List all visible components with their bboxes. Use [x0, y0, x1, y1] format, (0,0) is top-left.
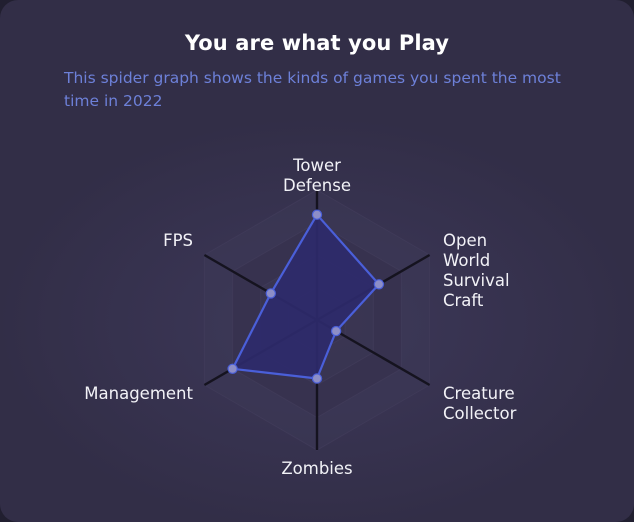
radar-chart-svg [0, 0, 634, 522]
radar-data-point[interactable] [374, 280, 383, 289]
radar-chart: Tower DefenseOpen World Survival CraftCr… [0, 0, 634, 522]
radar-data-point[interactable] [332, 327, 341, 336]
radar-data-point[interactable] [266, 289, 275, 298]
radar-data-point[interactable] [228, 364, 237, 373]
radar-data-point[interactable] [312, 374, 321, 383]
chart-card: You are what you Play This spider graph … [0, 0, 634, 522]
radar-data-point[interactable] [312, 210, 321, 219]
